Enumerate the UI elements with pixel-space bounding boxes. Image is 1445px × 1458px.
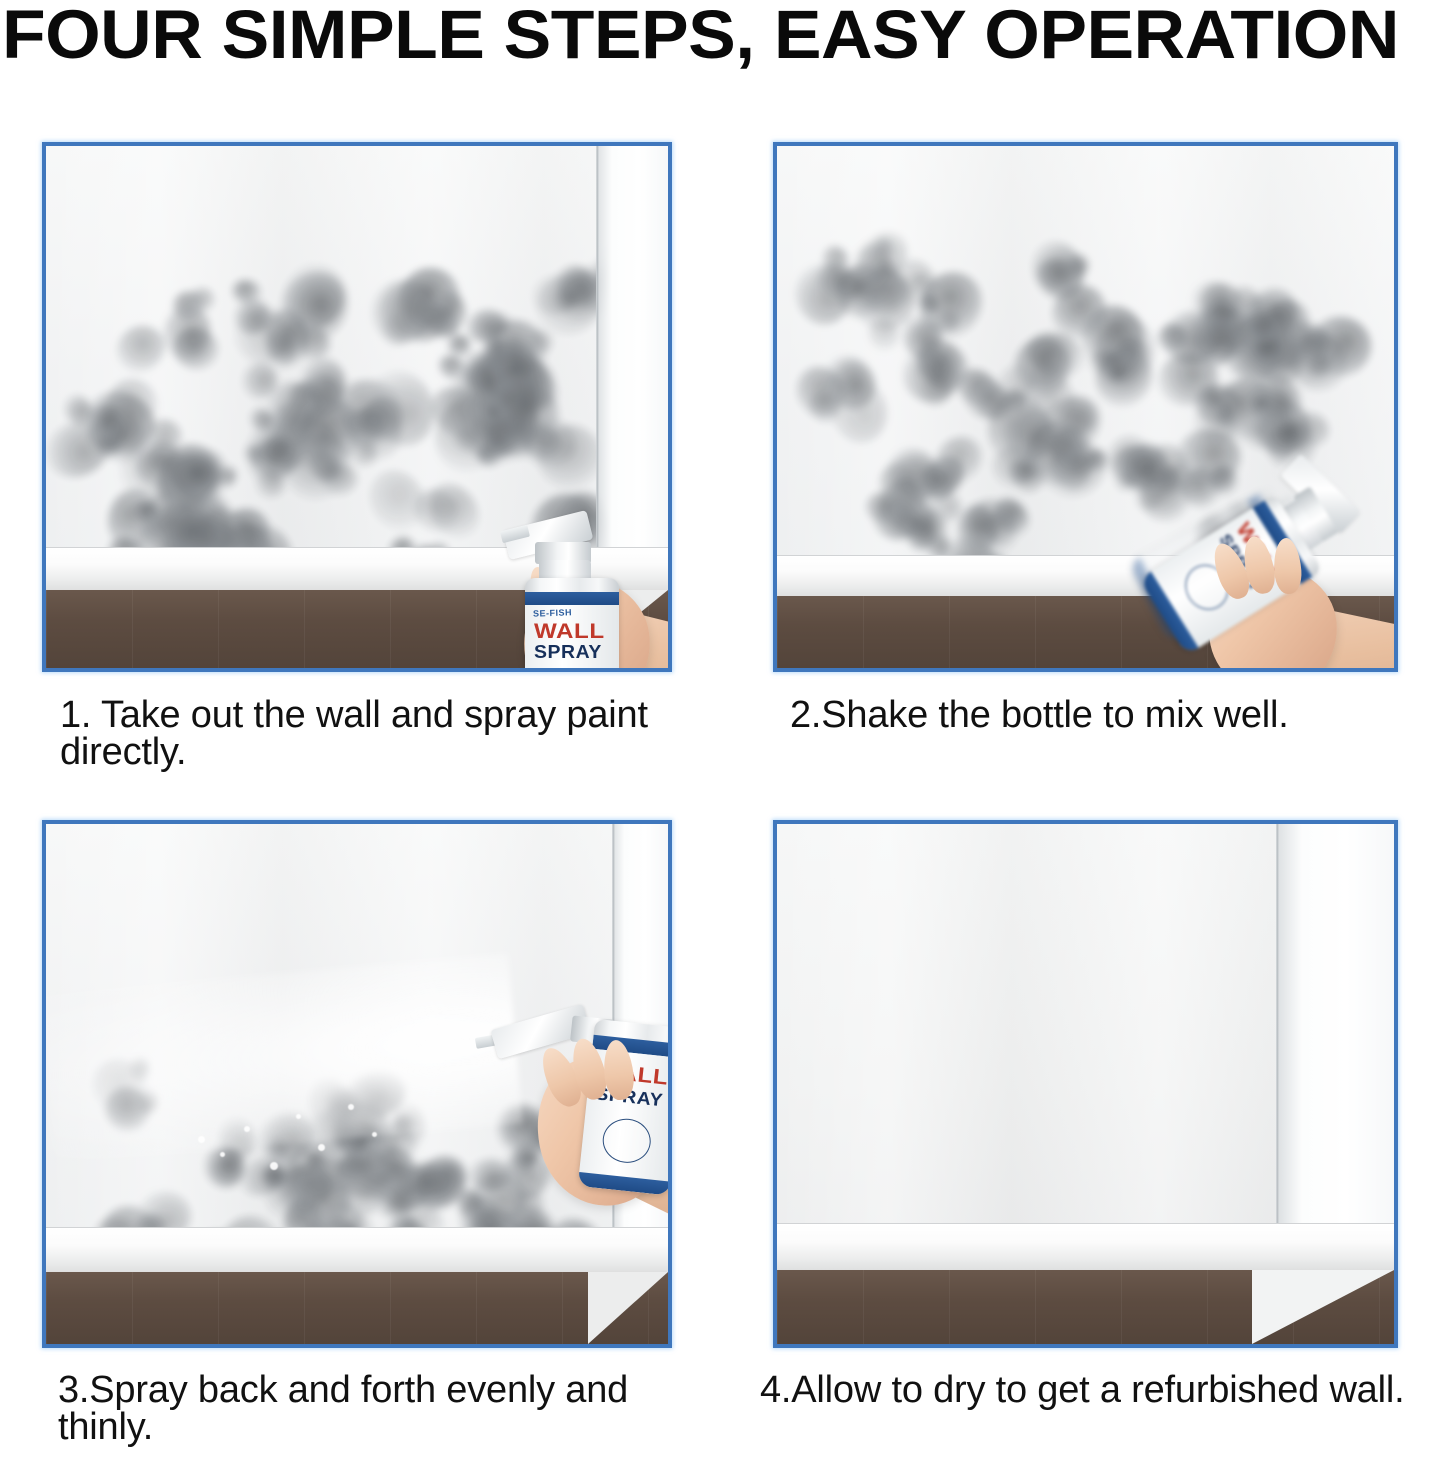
step-panel-1: SE-FISH WALL SPRAY AFTER	[42, 142, 672, 672]
scene-shaking-bottle: WALL SPRAY	[777, 146, 1394, 668]
spray-droplets	[186, 1074, 406, 1194]
baseboard	[46, 1227, 668, 1272]
step-panel-4	[773, 820, 1398, 1348]
scene-mold-wall-with-bottle: SE-FISH WALL SPRAY AFTER	[46, 146, 668, 668]
bottle-body: SE-FISH WALL SPRAY AFTER	[525, 578, 619, 672]
label-spray-text: SPRAY	[534, 642, 602, 663]
spray-bottle: SE-FISH WALL SPRAY AFTER	[501, 518, 633, 672]
step-caption-1: 1. Take out the wall and spray paint dir…	[60, 697, 720, 771]
scene-spraying-mist: WALL SPRAY	[46, 824, 668, 1344]
floor-perspective-wedge	[588, 1272, 668, 1344]
scene-clean-wall-result	[777, 824, 1394, 1344]
label-illustration-circle	[547, 670, 593, 672]
page-title: FOUR SIMPLE STEPS, EASY OPERATION	[2, 0, 1445, 72]
step-caption-3: 3.Spray back and forth evenly and thinly…	[58, 1372, 718, 1446]
baseboard	[777, 1223, 1394, 1270]
brand-text: SE-FISH	[533, 607, 572, 618]
step-caption-2: 2.Shake the bottle to mix well.	[790, 697, 1440, 734]
mold-blob	[1308, 315, 1373, 377]
step-caption-4: 4.Allow to dry to get a refurbished wall…	[760, 1372, 1445, 1409]
step-panel-2: WALL SPRAY	[773, 142, 1398, 672]
label-wall-text: WALL	[534, 620, 605, 644]
step-panel-3: WALL SPRAY	[42, 820, 672, 1348]
floor-perspective-wedge	[1252, 1270, 1394, 1344]
wood-floor	[46, 1272, 668, 1344]
mold-blob	[254, 470, 286, 499]
label-top-band	[525, 592, 619, 605]
